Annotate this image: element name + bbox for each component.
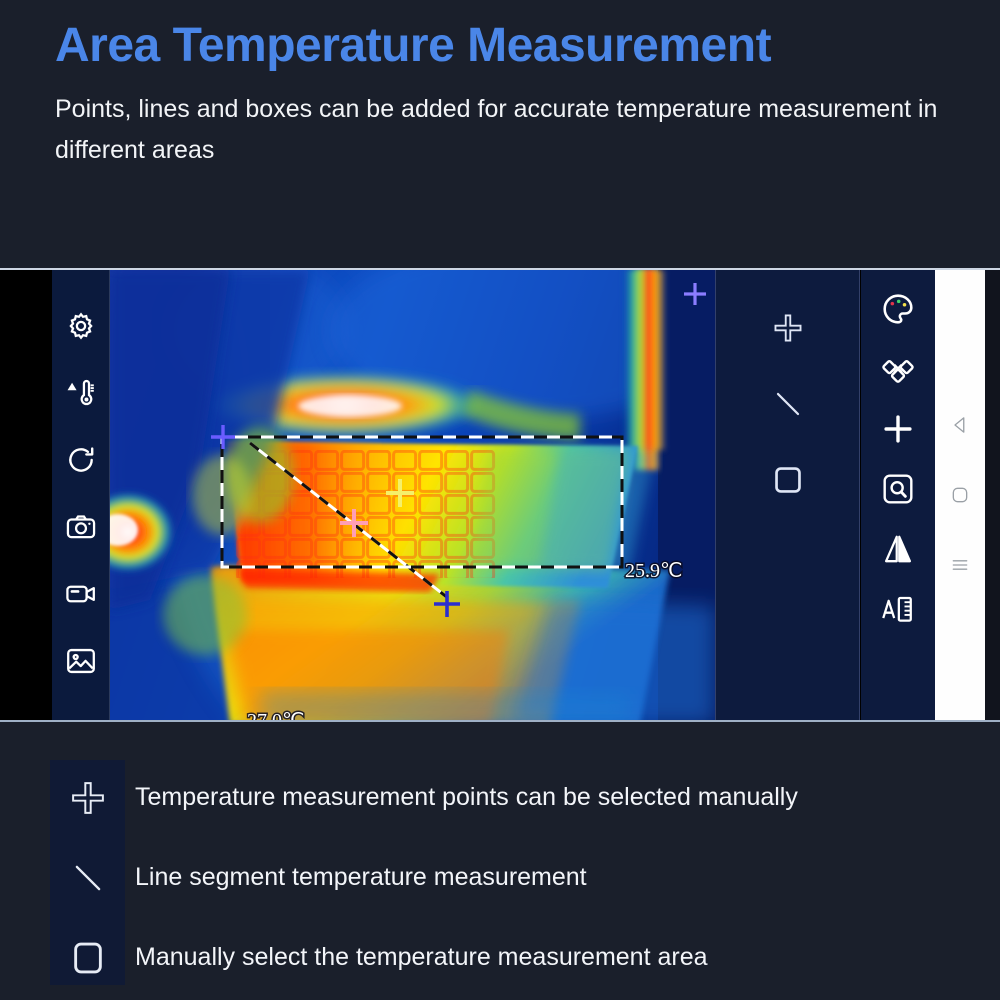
zoom-icon[interactable] (881, 472, 915, 506)
settings-icon[interactable] (65, 310, 97, 342)
unit-icon[interactable] (881, 592, 915, 626)
thermal-image-canvas (110, 270, 715, 720)
device-screenshot: 25.9℃ 27.0℃ 32.6℃ 36.7℃ 37.7℃ 32.7℃ (0, 268, 1000, 722)
camera-icon[interactable] (65, 511, 97, 543)
screen-right-edge (985, 270, 1000, 720)
legend-text: Manually select the temperature measurem… (135, 943, 708, 972)
legend-item-point: Temperature measurement points can be se… (50, 760, 1000, 835)
line-measure-icon (69, 859, 107, 897)
settings-toolbar (861, 270, 935, 720)
legend-item-area: Manually select the temperature measurem… (50, 920, 1000, 995)
page-subtitle: Points, lines and boxes can be added for… (55, 89, 945, 170)
line-measure-icon[interactable] (772, 388, 804, 420)
recents-icon[interactable] (950, 555, 970, 575)
video-icon[interactable] (65, 578, 97, 610)
android-nav-bar (935, 270, 985, 720)
legend: Temperature measurement points can be se… (0, 760, 1000, 1000)
fusion-icon[interactable] (881, 352, 915, 386)
point-measure-icon[interactable] (772, 312, 804, 344)
refresh-icon[interactable] (65, 444, 97, 476)
legend-item-line: Line segment temperature measurement (50, 840, 1000, 915)
mirror-icon[interactable] (881, 532, 915, 566)
screen-left-gutter (0, 270, 52, 720)
home-icon[interactable] (950, 485, 970, 505)
left-toolbar (52, 270, 110, 720)
gallery-icon[interactable] (65, 645, 97, 677)
legend-icon-slot (50, 859, 125, 897)
thermal-image[interactable] (110, 270, 715, 720)
area-measure-icon (69, 939, 107, 977)
palette-icon[interactable] (881, 292, 915, 326)
center-point-icon[interactable] (881, 412, 915, 446)
area-measure-icon[interactable] (772, 464, 804, 496)
back-icon[interactable] (950, 415, 970, 435)
point-measure-icon (69, 779, 107, 817)
legend-text: Temperature measurement points can be se… (135, 783, 798, 812)
temperature-alarm-icon[interactable] (65, 377, 97, 409)
legend-icon-slot (50, 779, 125, 817)
legend-text: Line segment temperature measurement (135, 863, 587, 892)
page-title: Area Temperature Measurement (55, 18, 1000, 73)
measurement-toolbar (715, 270, 860, 720)
legend-icon-slot (50, 939, 125, 977)
page-header: Area Temperature Measurement Points, lin… (0, 0, 1000, 170)
